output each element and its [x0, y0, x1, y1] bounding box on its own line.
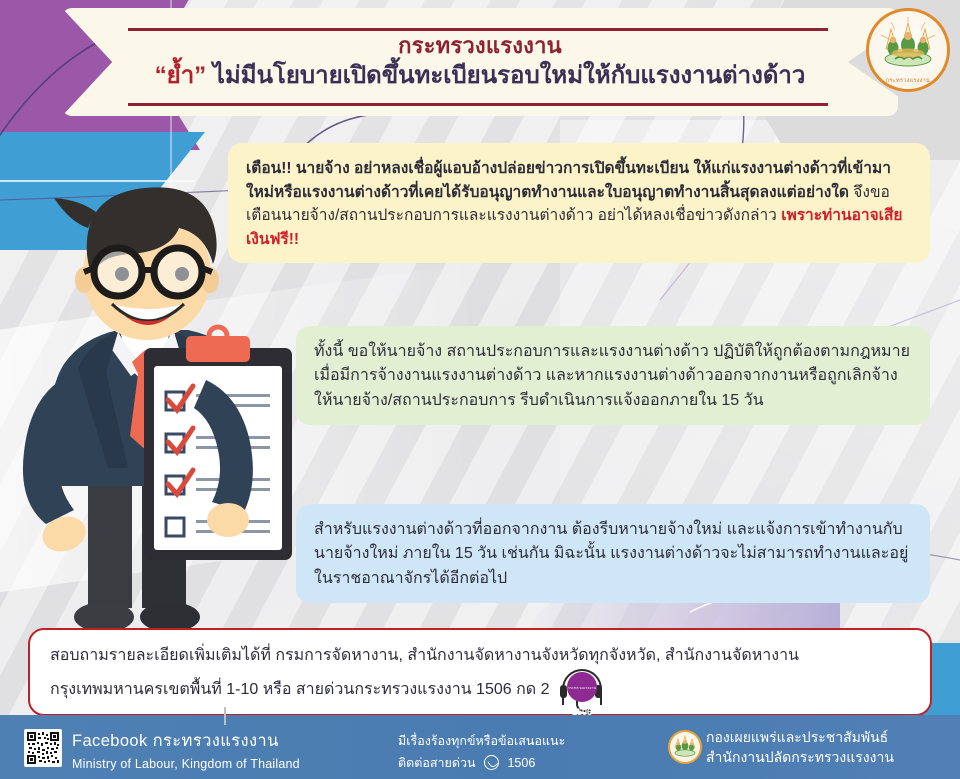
complaint-line-1: มีเรื่องร้องทุกข์หรือข้อเสนอแนะ: [398, 731, 565, 753]
infographic-poster: กระทรวงแรงงาน “ย้ำ” ไม่มีนโยบายเปิดขึ้นท…: [0, 0, 960, 779]
complaint-hotline-number: 1506: [507, 756, 535, 770]
page-title: กระทรวงแรงงาน: [398, 33, 562, 58]
title-block: กระทรวงแรงงาน “ย้ำ” ไม่มีนโยบายเปิดขึ้นท…: [92, 8, 868, 116]
contact-line-1: สอบถามรายละเอียดเพิ่มเติมได้ที่ กรมการจั…: [50, 643, 910, 669]
warning-paragraph: เตือน!! นายจ้าง อย่าหลงเชื่อผู้แอบอ้างปล…: [246, 157, 912, 251]
hotline-1506-badge-icon: กระทรวงแรงงาน 1506 กด 2: [560, 669, 602, 711]
contact-info-box: สอบถามรายละเอียดเพิ่มเติมได้ที่ กรมการจั…: [28, 628, 932, 716]
footer-bar: Facebook กระทรวงแรงงาน Ministry of Labou…: [0, 715, 960, 779]
complaint-info: มีเรื่องร้องทุกข์หรือข้อเสนอแนะ ติดต่อสา…: [398, 731, 565, 775]
facebook-page-name: Facebook กระทรวงแรงงาน: [72, 728, 300, 754]
seal-ministry-of-labour-icon: กระทรวงแรงงาน: [866, 8, 950, 92]
complaint-line-2: ติดต่อสายด่วน 1506: [398, 753, 565, 775]
footer-seal-icon: [668, 730, 702, 764]
warning-bold-part: เตือน!! นายจ้าง อย่าหลงเชื่อผู้แอบอ้างปล…: [246, 160, 891, 201]
qr-code-facebook-icon[interactable]: [24, 729, 62, 767]
worker-notice-paragraph: สำหรับแรงงานต่างด้าวที่ออกจากงาน ต้องรีบ…: [314, 518, 912, 591]
compliance-text-box: ทั้งนี้ ขอให้นายจ้าง สถานประกอบการและแรง…: [296, 326, 930, 425]
department-line-2: สำนักงานปลัดกระทรวงแรงงาน: [706, 748, 894, 768]
title-emphasis: “ย้ำ”: [155, 62, 207, 89]
compliance-paragraph: ทั้งนี้ ขอให้นายจ้าง สถานประกอบการและแรง…: [314, 340, 912, 413]
contact-line-2-wrapper: กรุงเทพมหานครเขตพื้นที่ 1-10 หรือ สายด่ว…: [50, 669, 910, 711]
hotline-badge-circle: กระทรวงแรงงาน 1506 กด 2: [567, 672, 597, 702]
ministry-name-en: Ministry of Labour, Kingdom of Thailand: [72, 757, 300, 771]
publishing-department-info: กองเผยแพร่และประชาสัมพันธ์ สำนักงานปลัดก…: [706, 728, 894, 768]
warning-text-box: เตือน!! นายจ้าง อย่าหลงเชื่อผู้แอบอ้างปล…: [228, 143, 930, 263]
facebook-info: Facebook กระทรวงแรงงาน Ministry of Labou…: [72, 728, 300, 771]
headset-ear-left: [560, 685, 567, 698]
contact-line-2: กรุงเทพมหานครเขตพื้นที่ 1-10 หรือ สายด่ว…: [50, 681, 550, 698]
hotline-badge-caption: กระทรวงแรงงาน: [567, 681, 596, 690]
department-line-1: กองเผยแพร่และประชาสัมพันธ์: [706, 728, 894, 748]
footer-separator: [224, 707, 226, 725]
seal-caption: กระทรวงแรงงาน: [869, 77, 947, 85]
page-subtitle: “ย้ำ” ไม่มีนโยบายเปิดขึ้นทะเบียนรอบใหม่ใ…: [155, 61, 806, 91]
worker-notice-text-box: สำหรับแรงงานต่างด้าวที่ออกจากงาน ต้องรีบ…: [296, 504, 930, 603]
complaint-contact-label: ติดต่อสายด่วน: [398, 756, 476, 770]
phone-icon: [484, 755, 499, 770]
title-rest: ไม่มีนโยบายเปิดขึ้นทะเบียนรอบใหม่ให้กับแ…: [206, 62, 805, 89]
